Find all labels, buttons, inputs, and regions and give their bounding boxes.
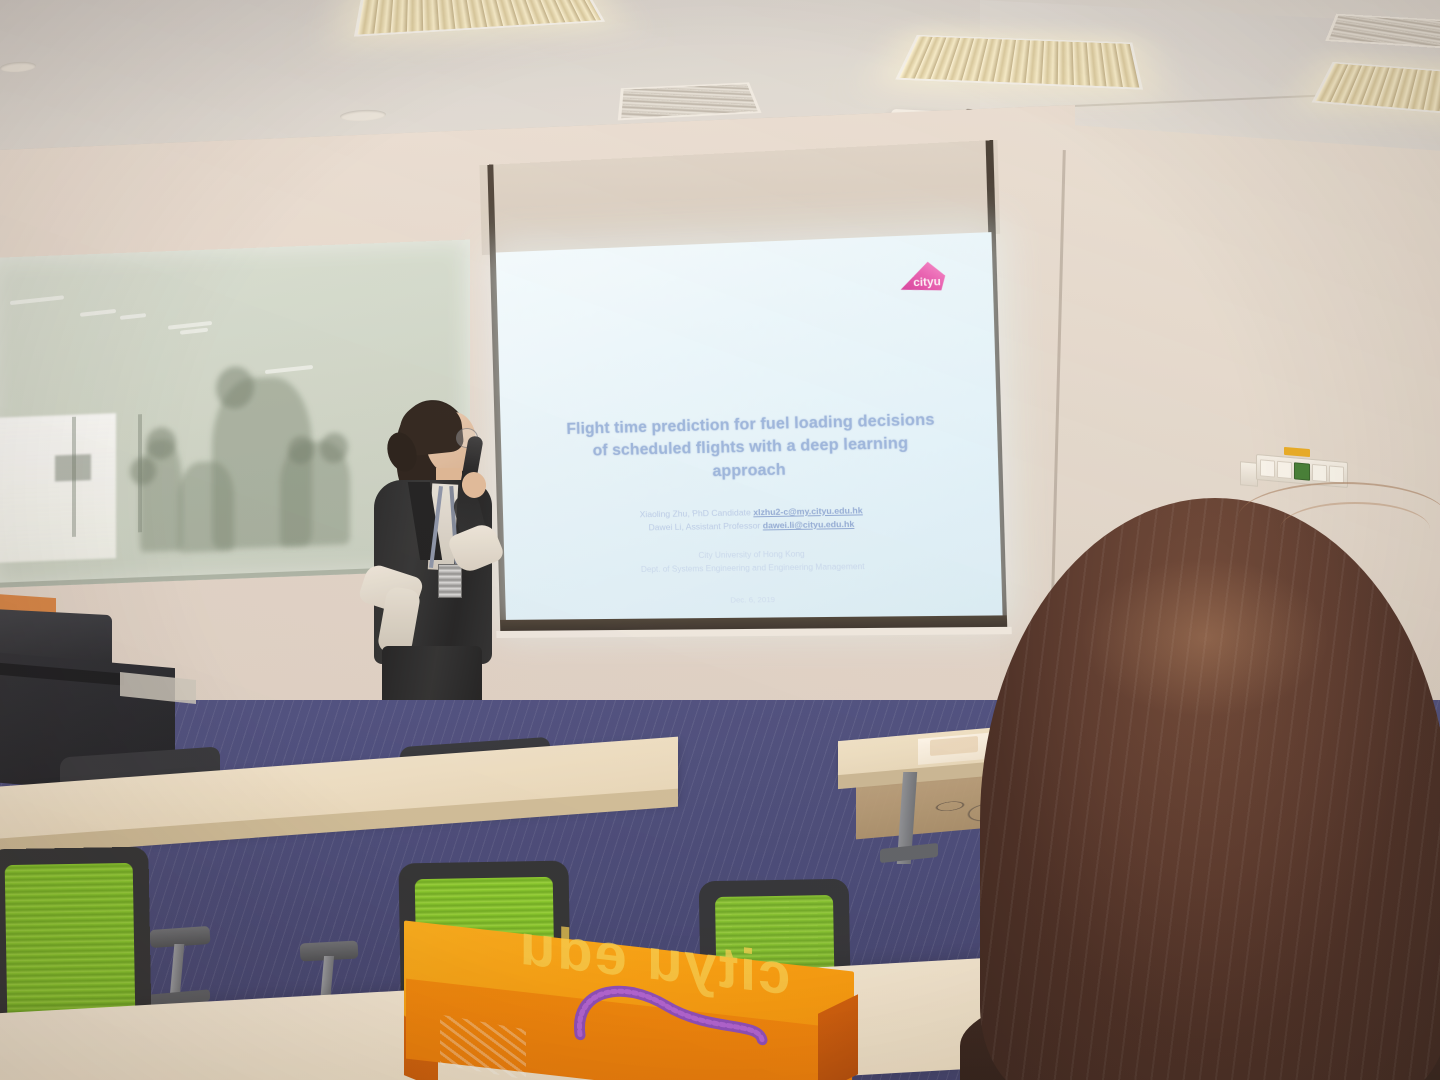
switch-key[interactable] — [1260, 459, 1275, 477]
glass-reflection — [80, 309, 116, 317]
foreground-attendee — [960, 498, 1440, 1080]
orange-paper-bag[interactable]: cityu edu — [404, 946, 854, 1080]
author-email-link[interactable]: dawei.li@cityu.edu.hk — [763, 519, 855, 531]
switch-key[interactable] — [1277, 460, 1292, 478]
slide-affiliation: City University of Hong Kong Dept. of Sy… — [562, 546, 947, 578]
author-name: Dawei Li, Assistant Professor — [648, 520, 760, 532]
glass-reflection — [10, 295, 64, 305]
switch-key-active[interactable] — [1294, 462, 1309, 480]
glass-reflection — [265, 365, 313, 374]
framed-object-behind-glass — [55, 454, 91, 481]
switch-key[interactable] — [1329, 465, 1344, 483]
slide-authors: Xiaoling Zhu, PhD Candidate xlzhu2-c@my.… — [561, 502, 946, 535]
author-email-link[interactable]: xlzhu2-c@my.cityu.edu.hk — [753, 505, 863, 517]
glass-reflection — [180, 328, 208, 335]
attendee-hair-highlight — [1080, 558, 1330, 718]
slide-date: Dec. 6, 2019 — [563, 593, 948, 606]
presenter-badge — [438, 564, 462, 598]
presentation-room-photo: cityu Flight time prediction for fuel lo… — [0, 0, 1440, 1080]
projection-screen: cityu Flight time prediction for fuel lo… — [479, 140, 1011, 640]
slide-title: Flight time prediction for fuel loading … — [558, 409, 944, 487]
attendee-hair-strand — [1280, 502, 1430, 556]
author-name: Xiaoling Zhu, PhD Candidate — [640, 507, 751, 519]
svg-text:cityu: cityu — [913, 276, 941, 290]
chair-mesh-back — [5, 863, 136, 1025]
slide-surface: cityu Flight time prediction for fuel lo… — [496, 232, 1003, 623]
cityu-logo-icon: cityu — [896, 257, 951, 301]
lit-area-behind-glass — [0, 413, 116, 563]
switch-key[interactable] — [1312, 463, 1327, 481]
glass-reflection — [120, 313, 146, 320]
